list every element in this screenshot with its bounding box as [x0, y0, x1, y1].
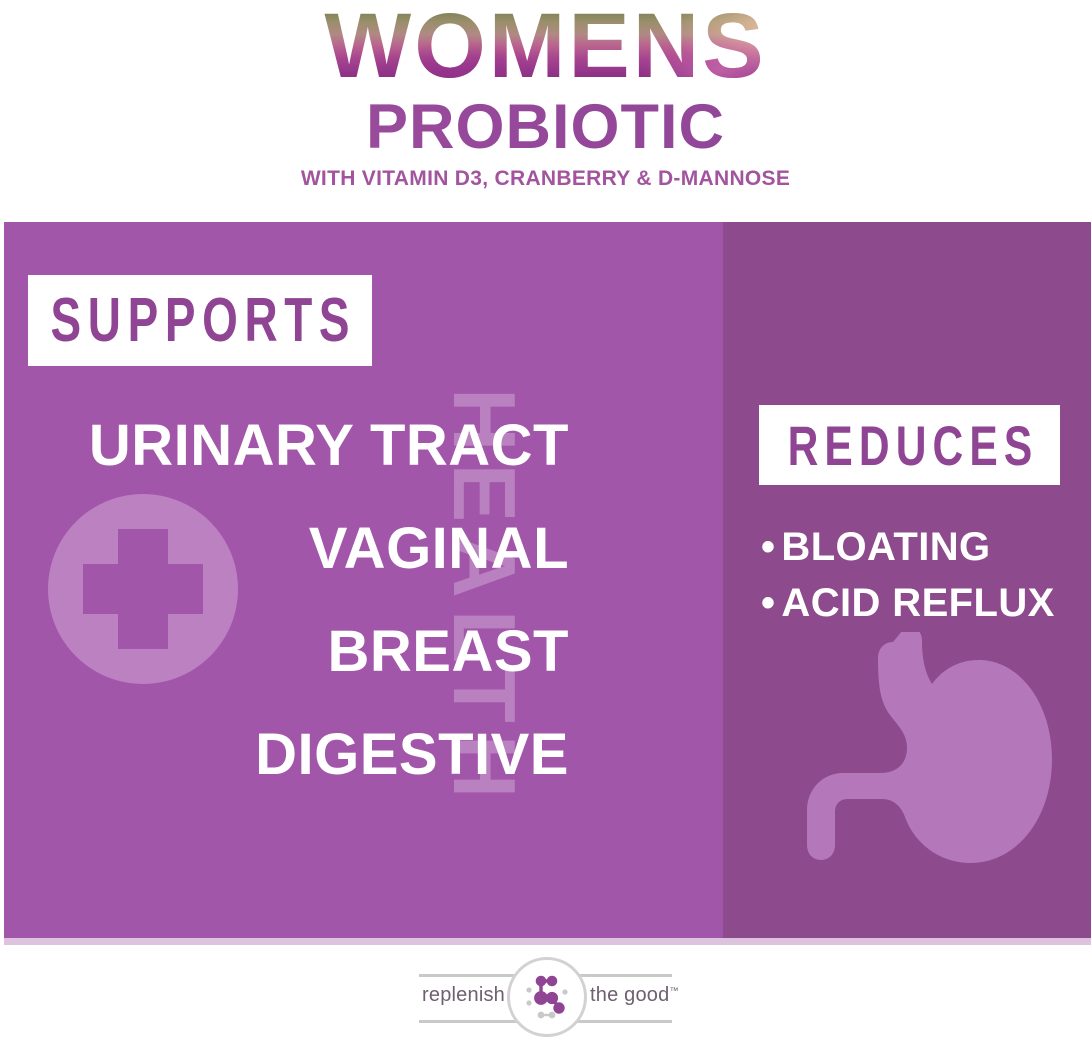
reduces-badge: REDUCES: [759, 405, 1060, 485]
reduces-list: •BLOATING •ACID REFLUX: [761, 519, 1091, 631]
logo-word-replenish: replenish: [409, 984, 505, 1007]
header: WOMENS PROBIOTIC WITH VITAMIN D3, CRANBE…: [0, 0, 1091, 222]
supports-badge: SUPPORTS: [28, 275, 372, 366]
supports-list-item: VAGINAL: [4, 497, 569, 600]
replenish-the-good-logo: replenish the good™: [409, 958, 682, 1038]
bullet-icon: •: [761, 581, 775, 625]
brand-title-probiotic: PROBIOTIC: [0, 94, 1091, 160]
panel-bottom-strip: [4, 938, 1091, 945]
bullet-icon: •: [761, 525, 775, 569]
supports-badge-label: SUPPORTS: [44, 285, 356, 356]
reduces-list-item: •BLOATING: [761, 519, 1091, 575]
reduces-badge-label: REDUCES: [781, 413, 1038, 478]
supports-list-item: URINARY TRACT: [4, 394, 569, 497]
trademark-symbol: ™: [669, 985, 678, 995]
footer-logo: replenish the good™: [0, 948, 1091, 1045]
reduces-list-item: •ACID REFLUX: [761, 575, 1091, 631]
molecular-r-icon: [519, 970, 575, 1026]
supports-list: URINARY TRACT VAGINAL BREAST DIGESTIVE: [4, 394, 569, 806]
reduces-list-item-label: ACID REFLUX: [781, 581, 1054, 625]
benefits-panel: HEALTH SUPPORTS URINARY TRACT VAGINAL BR…: [4, 222, 1091, 938]
logo-word-the-good-label: the good: [590, 984, 669, 1006]
brand-tagline: WITH VITAMIN D3, CRANBERRY & D-MANNOSE: [0, 167, 1091, 191]
logo-word-the-good: the good™: [590, 984, 700, 1007]
brand-title-womens: WOMENS: [0, 0, 1091, 96]
reduces-list-item-label: BLOATING: [781, 525, 990, 569]
supports-list-item: DIGESTIVE: [4, 703, 569, 806]
supports-list-item: BREAST: [4, 600, 569, 703]
stomach-icon: [789, 632, 1059, 897]
